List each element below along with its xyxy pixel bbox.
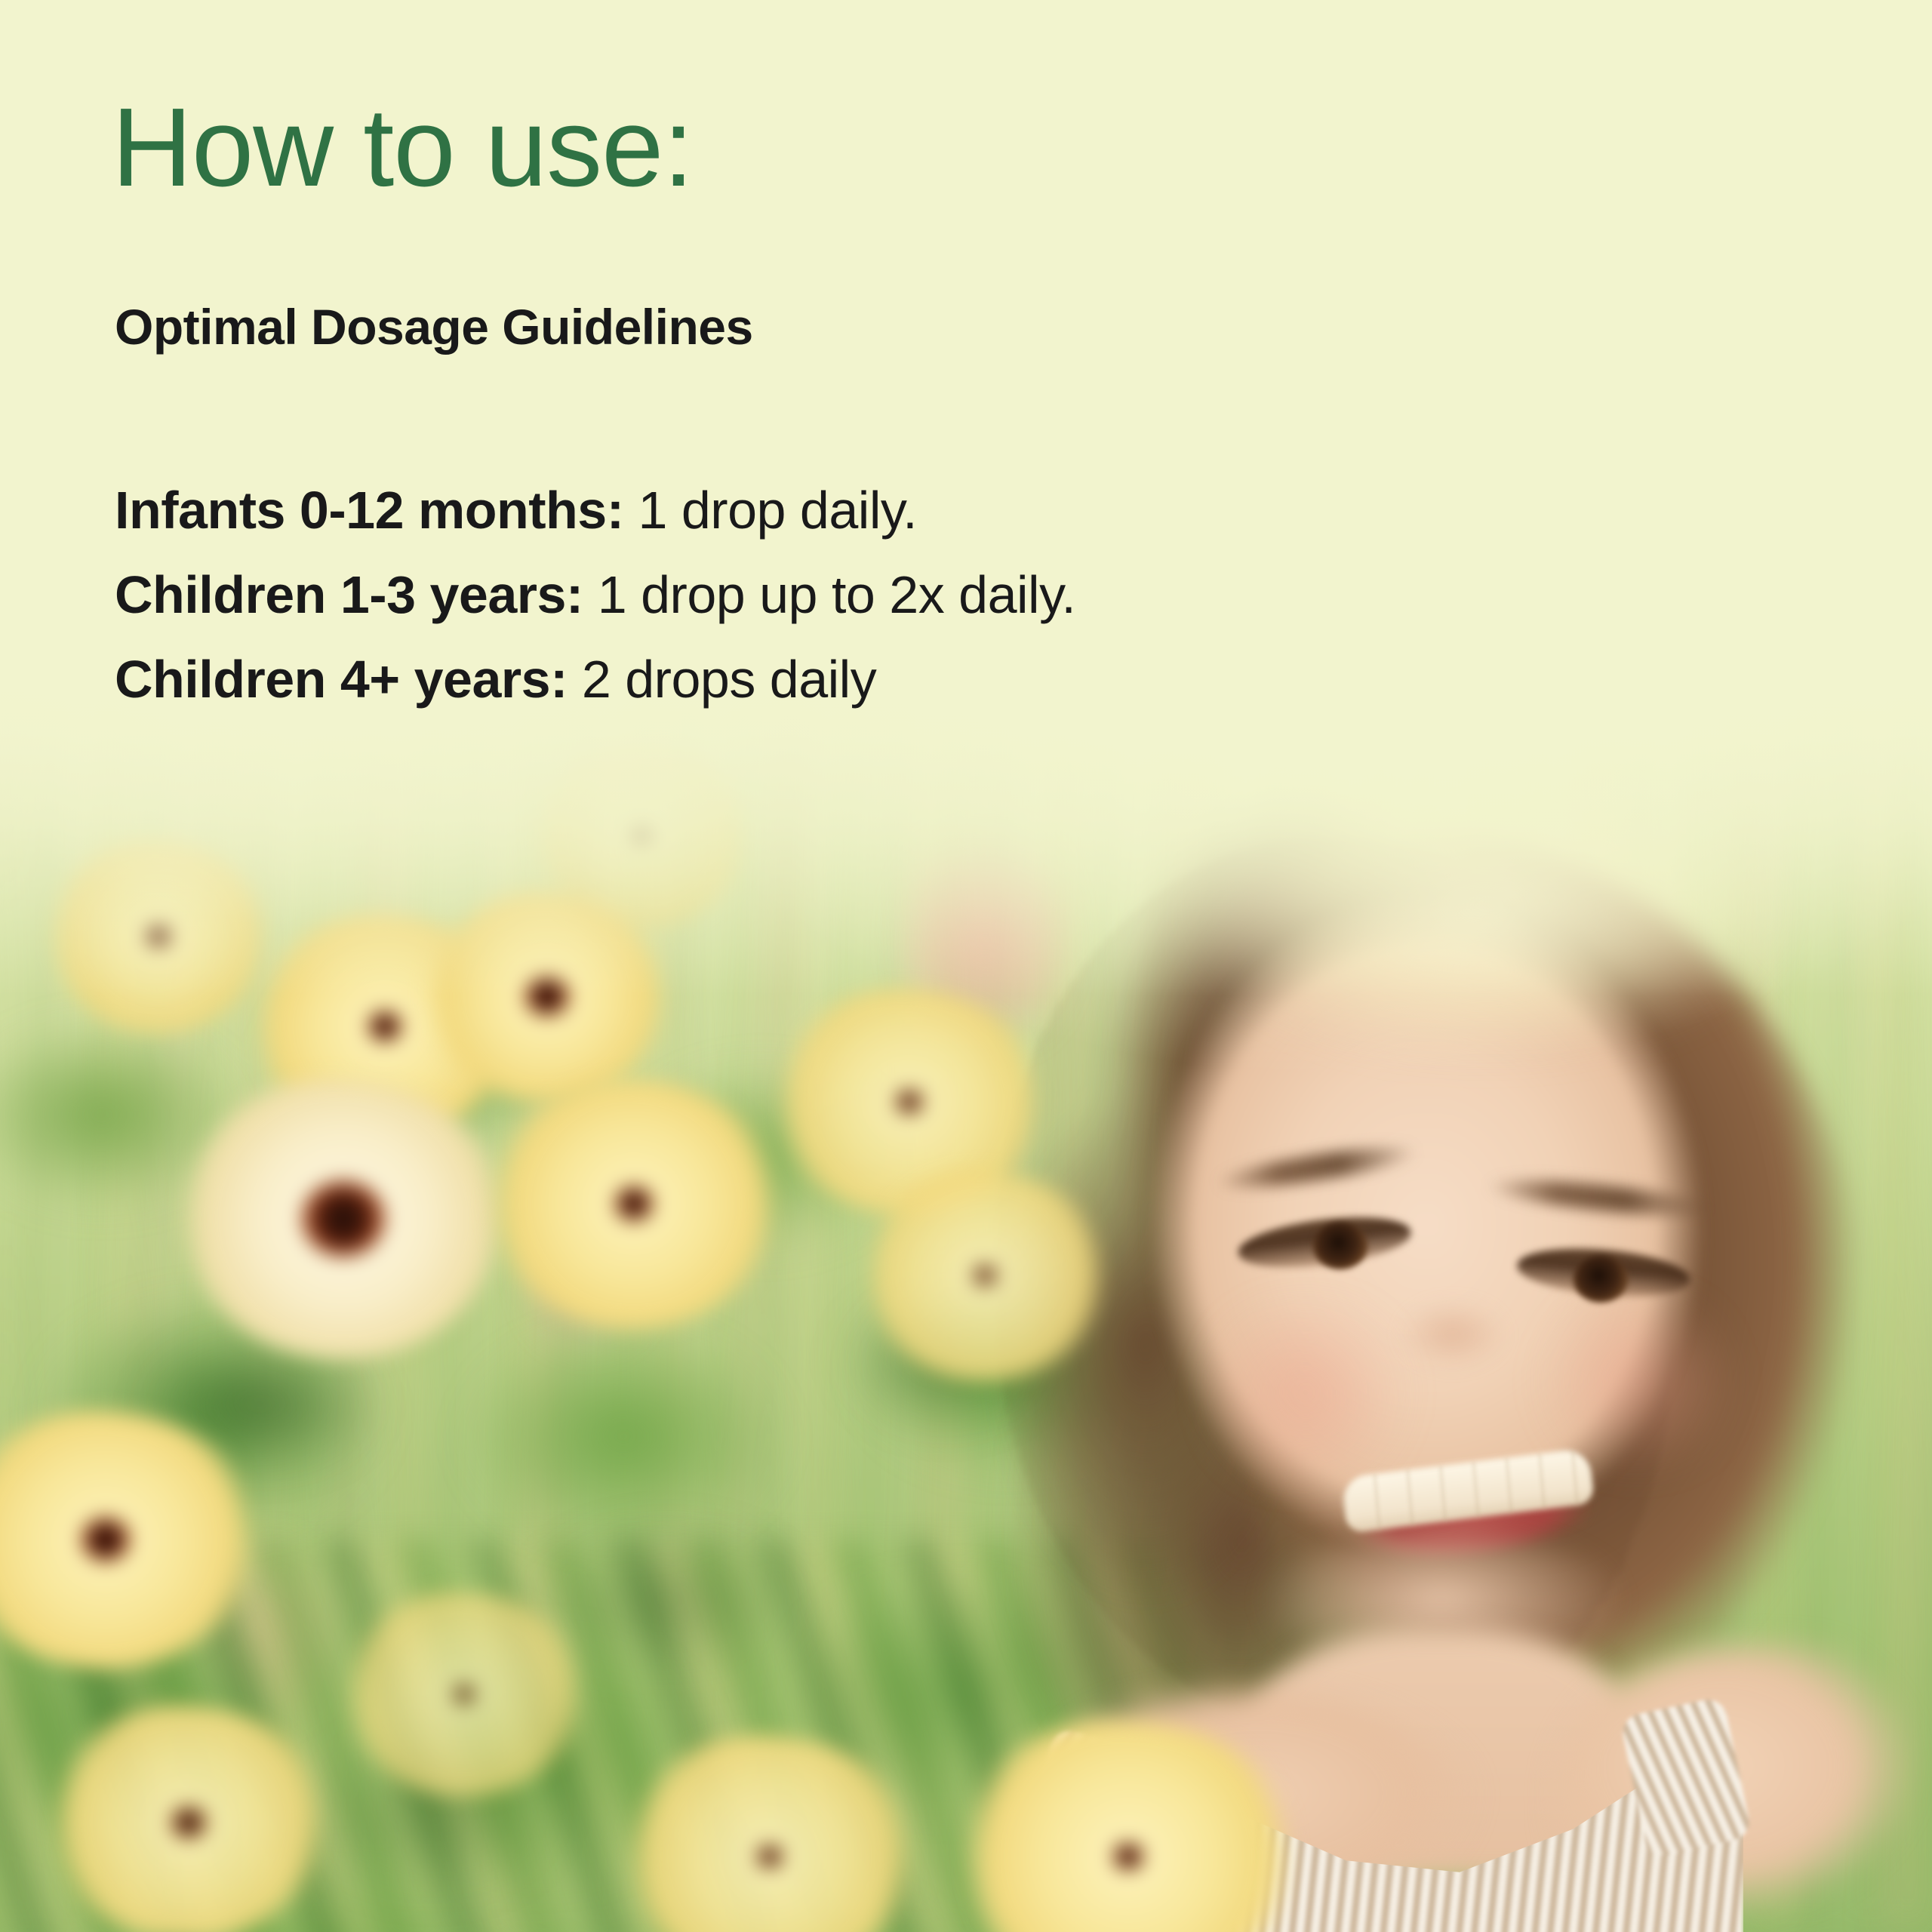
dosage-value: 2 drops daily bbox=[568, 650, 876, 709]
dosage-label: Children 4+ years: bbox=[115, 650, 568, 709]
dosage-list: Infants 0-12 months: 1 drop daily. Child… bbox=[115, 468, 1075, 721]
dosage-label: Children 1-3 years: bbox=[115, 565, 583, 624]
text-content: How to use: Optimal Dosage Guidelines In… bbox=[0, 0, 1932, 1932]
dosage-row: Children 1-3 years: 1 drop up to 2x dail… bbox=[115, 552, 1075, 637]
how-to-use-card: How to use: Optimal Dosage Guidelines In… bbox=[0, 0, 1932, 1932]
dosage-value: 1 drop daily. bbox=[624, 481, 918, 540]
dosage-label: Infants 0-12 months: bbox=[115, 481, 624, 540]
dosage-row: Infants 0-12 months: 1 drop daily. bbox=[115, 468, 1075, 552]
dosage-row: Children 4+ years: 2 drops daily bbox=[115, 637, 1075, 721]
page-title: How to use: bbox=[112, 92, 693, 204]
dosage-value: 1 drop up to 2x daily. bbox=[583, 565, 1076, 624]
subheading: Optimal Dosage Guidelines bbox=[115, 302, 753, 352]
